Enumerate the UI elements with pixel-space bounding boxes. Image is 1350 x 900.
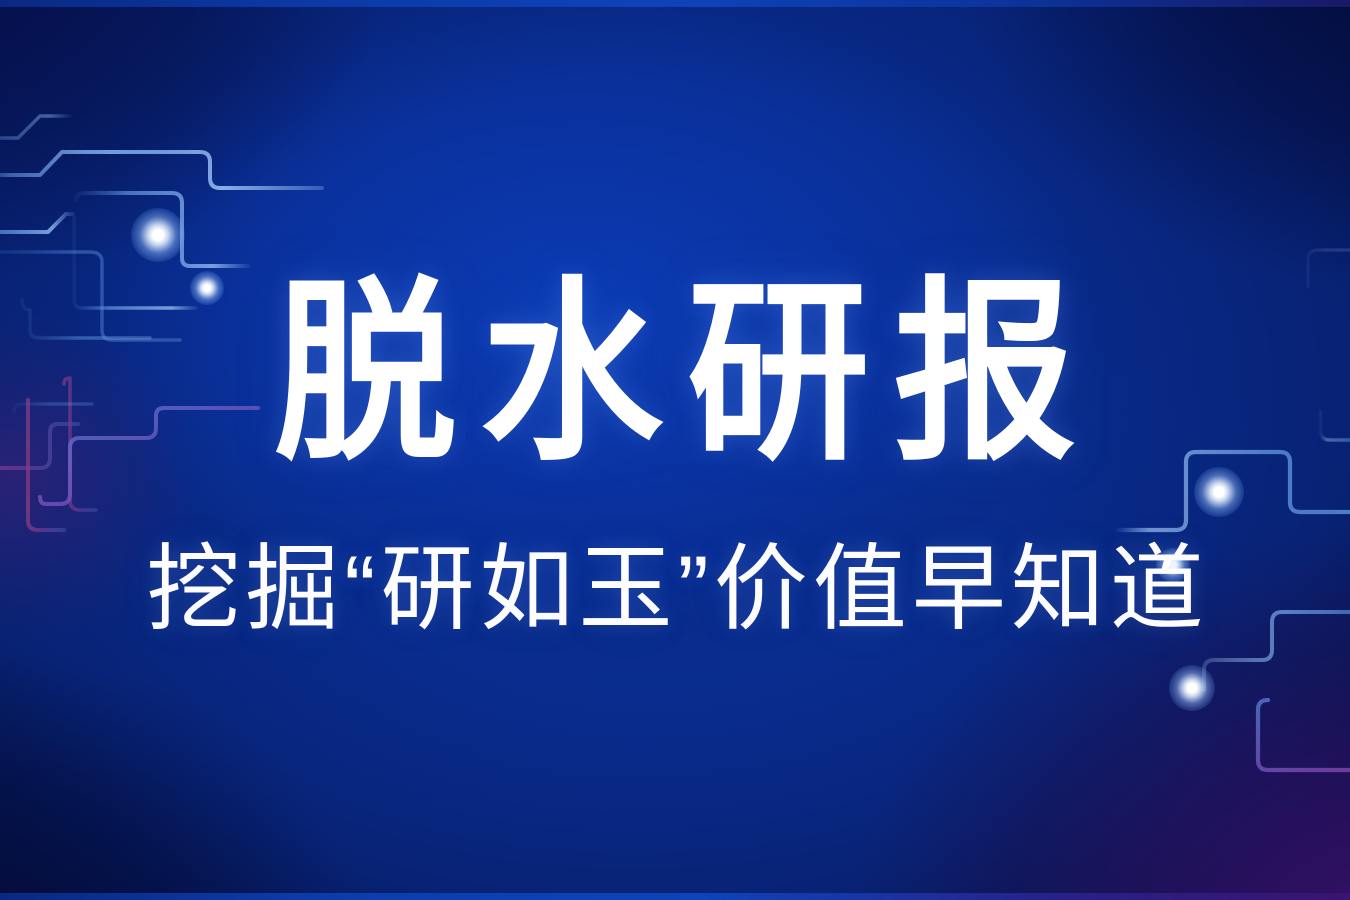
page-subtitle: 挖掘“研如玉”价值早知道: [0, 534, 1350, 644]
banner-cover: 脱水研报 挖掘“研如玉”价值早知道: [0, 0, 1350, 900]
page-title: 脱水研报: [47, 268, 1303, 480]
headline-block: 脱水研报 挖掘“研如玉”价值早知道: [0, 0, 1350, 900]
